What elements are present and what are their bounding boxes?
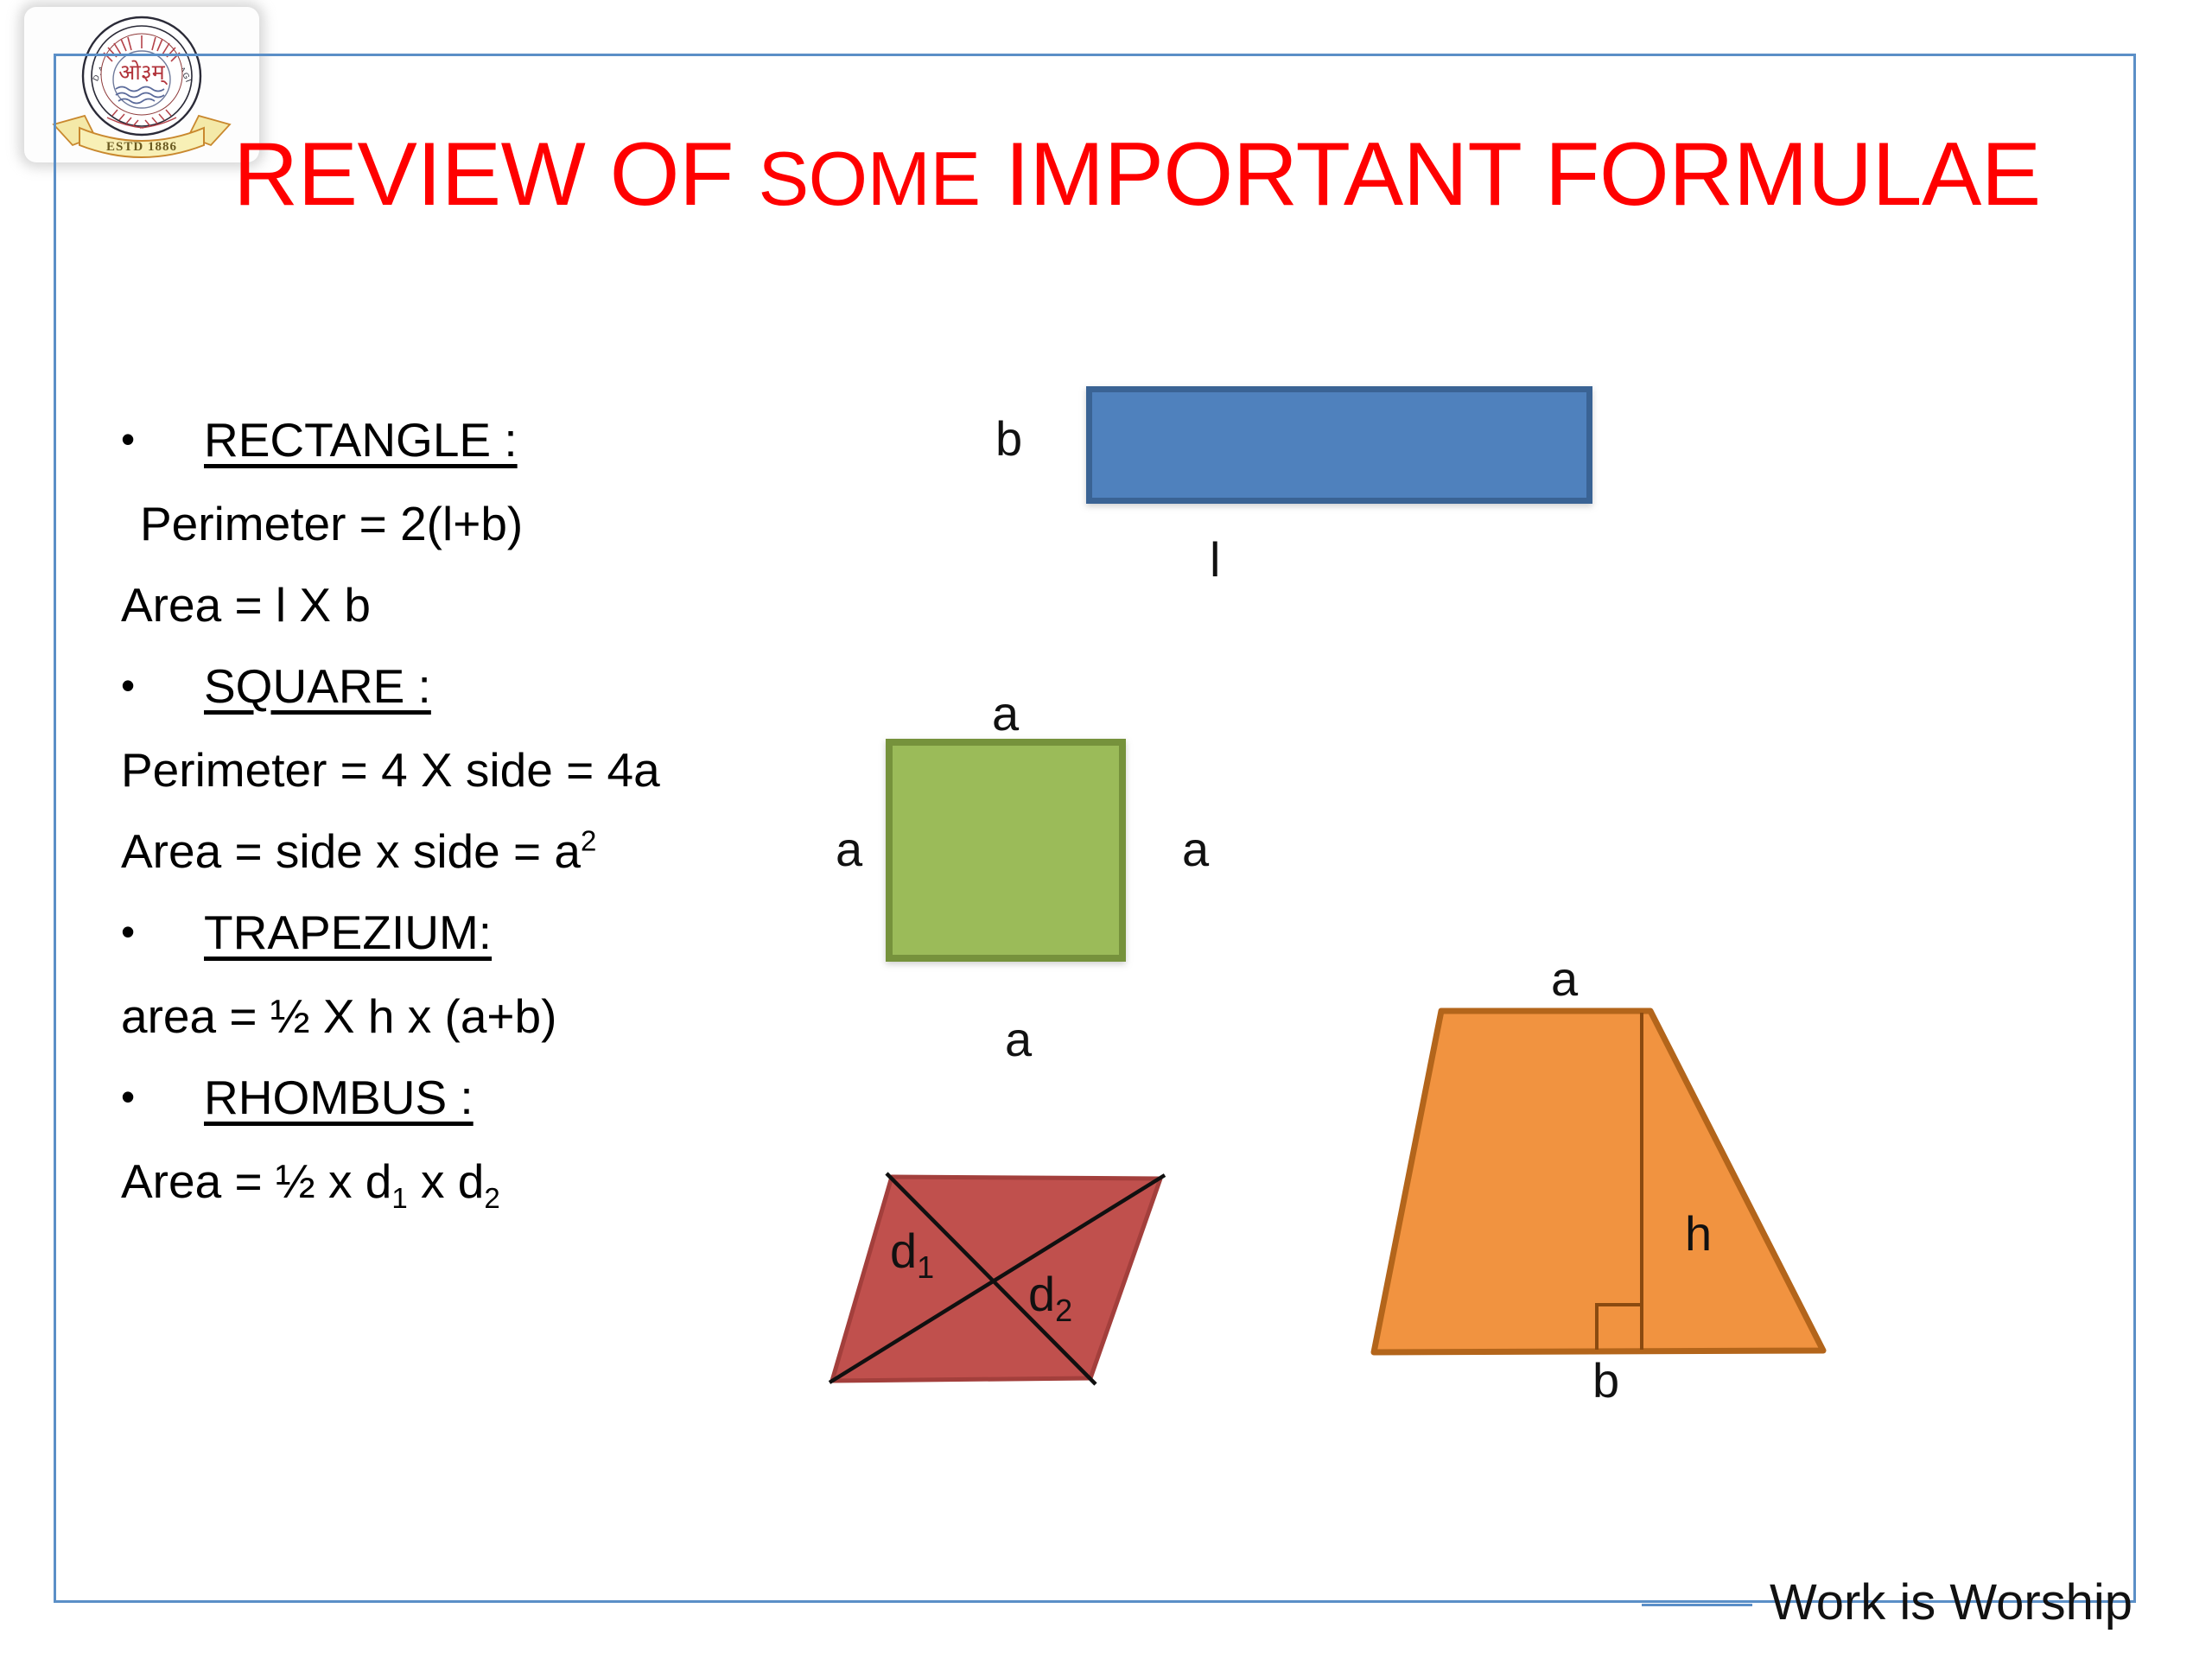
rhombus-label-d1-text: d <box>890 1224 917 1278</box>
rhombus-heading-text: RHOMBUS : <box>204 1071 474 1124</box>
rhombus-area-sub-2: 2 <box>484 1182 499 1214</box>
rhombus-shape <box>804 1149 1201 1408</box>
trapezium-label-a: a <box>1551 955 1578 1003</box>
formula-square-area: Area = side x side = a2 <box>121 810 821 892</box>
page-title: REVIEW OF SOME IMPORTANT FORMULAE <box>233 130 2117 224</box>
rectangle-heading-text: RECTANGLE : <box>204 413 518 467</box>
rhombus-area-text-1: Area = ½ x d <box>121 1154 391 1208</box>
dav-logo: D.A.V. COLLEGE MANAGING COMMITTEE ओ३म् <box>24 7 259 162</box>
trapezium-heading-text: TRAPEZIUM: <box>204 906 492 959</box>
square-shape <box>886 739 1126 962</box>
rectangle-shape <box>1086 386 1592 504</box>
rhombus-label-d1: d1 <box>890 1227 934 1275</box>
formula-heading-trapezium: TRAPEZIUM: <box>121 892 821 976</box>
rectangle-label-b: b <box>995 415 1022 463</box>
bullet-icon <box>121 892 204 976</box>
square-label-bottom: a <box>1005 1015 1032 1064</box>
rhombus-area-text-2: x d <box>408 1154 485 1208</box>
trapezium-graphic <box>1365 994 1849 1374</box>
svg-text:ओ३म्: ओ३म् <box>118 60 168 86</box>
formula-rectangle-area: Area = l X b <box>121 564 821 645</box>
slide-canvas: D.A.V. COLLEGE MANAGING COMMITTEE ओ३म् <box>0 0 2212 1659</box>
title-segment-2: IMPORTANT FORMULAE <box>981 124 2041 225</box>
square-area-text: Area = side x side = a <box>121 824 581 878</box>
square-label-right: a <box>1182 825 1209 874</box>
rhombus-label-d2-sub: 2 <box>1055 1293 1072 1328</box>
bullet-icon <box>121 1057 204 1141</box>
title-segment-1: REVIEW OF <box>233 124 758 225</box>
svg-text:ESTD 1886: ESTD 1886 <box>106 140 177 154</box>
formula-trapezium-area: area = ½ X h x (a+b) <box>121 976 821 1057</box>
formula-rectangle-perimeter: Perimeter = 2(l+b) <box>121 483 821 564</box>
formula-heading-rhombus: RHOMBUS : <box>121 1057 821 1141</box>
formula-rhombus-area: Area = ½ x d1 x d2 <box>121 1141 821 1222</box>
trapezium-label-h: h <box>1685 1210 1712 1258</box>
square-heading-text: SQUARE : <box>204 659 431 713</box>
trapezium-label-b: b <box>1592 1357 1619 1405</box>
rhombus-label-d2-text: d <box>1028 1267 1055 1321</box>
square-label-top: a <box>992 690 1019 738</box>
formula-heading-square: SQUARE : <box>121 645 821 729</box>
square-area-exponent: 2 <box>581 825 596 857</box>
formula-list: RECTANGLE : Perimeter = 2(l+b) Area = l … <box>121 399 821 1222</box>
footer: Work is Worship <box>1642 1575 2160 1644</box>
rhombus-graphic <box>804 1149 1201 1408</box>
footer-text: Work is Worship <box>1770 1575 2133 1630</box>
dav-logo-graphic: D.A.V. COLLEGE MANAGING COMMITTEE ओ३म् <box>24 7 259 162</box>
rhombus-label-d2: d2 <box>1028 1270 1072 1319</box>
formula-heading-rectangle: RECTANGLE : <box>121 399 821 483</box>
formula-square-perimeter: Perimeter = 4 X side = 4a <box>121 729 821 810</box>
title-segment-smallcaps: SOME <box>758 136 980 221</box>
bullet-icon <box>121 399 204 483</box>
bullet-icon <box>121 645 204 729</box>
rhombus-label-d1-sub: 1 <box>917 1249 934 1285</box>
rhombus-area-sub-1: 1 <box>391 1182 407 1214</box>
footer-leader-line <box>1642 1604 1752 1606</box>
square-label-left: a <box>836 825 862 874</box>
rectangle-label-l: l <box>1210 536 1220 584</box>
trapezium-shape <box>1365 994 1849 1374</box>
